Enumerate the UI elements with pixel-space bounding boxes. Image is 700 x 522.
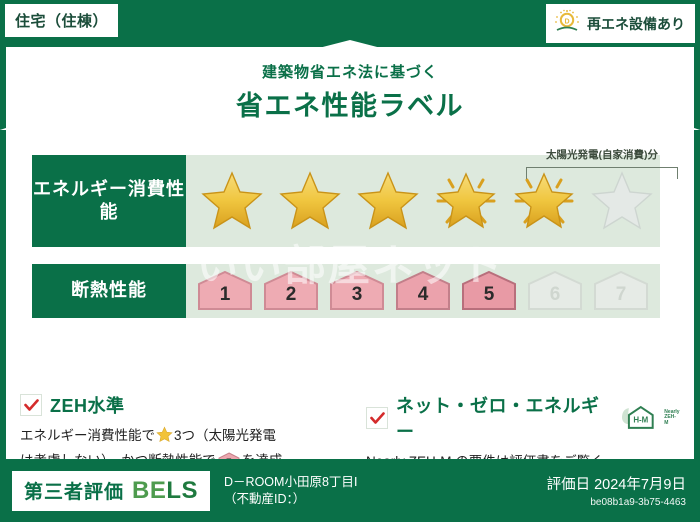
building-type-label: 住宅（住棟） [15,10,108,31]
renewable-energy-label: 再エネ設備あり [587,14,685,34]
checkbox-checked-icon [20,394,42,416]
insulation-level-number: 5 [484,284,495,306]
claim-text-b: 3つ（太陽光発電 [174,428,276,443]
insulation-level-number: 1 [220,284,231,306]
insulation-level-6: 6 [526,270,584,312]
building-name-line1: D－ROOM小田原8丁目Ⅰ [224,474,547,491]
building-name-line2: （不動産ID：） [224,491,547,508]
insulation-level-1: 1 [196,270,254,312]
claim-header: ネット・ゼロ・エネルギー H-M Nearly ZEH-M [366,392,680,444]
insulation-level-4: 4 [394,270,452,312]
energy-performance-label-text: エネルギー消費性能 [32,178,186,225]
bels-en-part2: LS [166,477,198,504]
insulation-level-number: 7 [616,284,627,306]
title-main: 省エネ性能ラベル [6,84,694,123]
evaluation-date: 評価日 2024年7月9日 [547,473,686,494]
claim-title: ZEH水準 [50,392,125,418]
star-3 [353,166,423,236]
solar-sun-icon: D [553,8,581,39]
energy-performance-label: 住宅（住棟） D 再エネ設備あり 建築物省エネ法に基づく 省エネ性能ラベル [0,0,700,522]
evaluation-info: 評価日 2024年7月9日 be08b1a9-3b75-4463 [547,473,686,508]
insulation-level-number: 2 [286,284,297,306]
bels-en-label: BELS [132,477,198,505]
insulation-level-number: 6 [550,284,561,306]
insulation-label-text: 断熱性能 [71,279,147,302]
logo-sub-2: ZEH-M [664,415,680,426]
star-4-solar [431,166,501,236]
star-2 [275,166,345,236]
solar-bracket-line [526,167,678,179]
insulation-level-number: 3 [352,284,363,306]
insulation-level-5-achieved: 5 [460,270,518,312]
insulation-level-2: 2 [262,270,320,312]
insulation-label-cell: 断熱性能 [32,264,186,318]
star-icon [156,426,173,450]
solar-bracket-label: 太陽光発電(自家消費)分 [504,147,700,162]
insulation-level-list: 1 2 3 4 5 [186,270,660,312]
energy-stars-area: 太陽光発電(自家消費)分 [186,155,660,247]
bels-jp-label: 第三者評価 [24,477,124,504]
claim-text-a: エネルギー消費性能で [20,428,155,443]
title-subtitle: 建築物省エネ法に基づく [6,61,694,82]
svg-text:H-M: H-M [633,415,648,424]
zeh-m-house-logo: H-M Nearly ZEH-M [619,404,680,432]
title-block: 建築物省エネ法に基づく 省エネ性能ラベル [6,61,694,123]
insulation-level-number: 4 [418,284,429,306]
claim-header: ZEH水準 [20,392,338,418]
energy-performance-row: エネルギー消費性能 太陽光発電(自家消費)分 [32,155,660,247]
evaluation-id: be08b1a9-3b75-4463 [547,497,686,508]
footer-bar: 第三者評価 BELS D－ROOM小田原8丁目Ⅰ （不動産ID：） 評価日 20… [0,459,700,522]
insulation-levels-area: 1 2 3 4 5 [186,264,660,318]
svg-text:D: D [564,19,569,26]
building-name: D－ROOM小田原8丁目Ⅰ （不動産ID：） [224,474,547,508]
bels-en-part1: BE [132,477,166,504]
star-1 [197,166,267,236]
renewable-energy-tag: D 再エネ設備あり [546,4,695,43]
claim-title: ネット・ゼロ・エネルギー [396,392,605,444]
insulation-level-3: 3 [328,270,386,312]
solar-bracket: 太陽光発電(自家消費)分 [526,161,678,187]
energy-performance-label-cell: エネルギー消費性能 [32,155,186,247]
bels-badge: 第三者評価 BELS [12,471,210,511]
insulation-level-7: 7 [592,270,650,312]
insulation-performance-row: 断熱性能 1 2 3 4 [32,264,660,318]
building-type-tag: 住宅（住棟） [5,4,118,37]
label-panel: 建築物省エネ法に基づく 省エネ性能ラベル ZEH水準 エネルギー消費性能で3つ（… [6,47,694,459]
checkbox-checked-icon [366,407,388,429]
